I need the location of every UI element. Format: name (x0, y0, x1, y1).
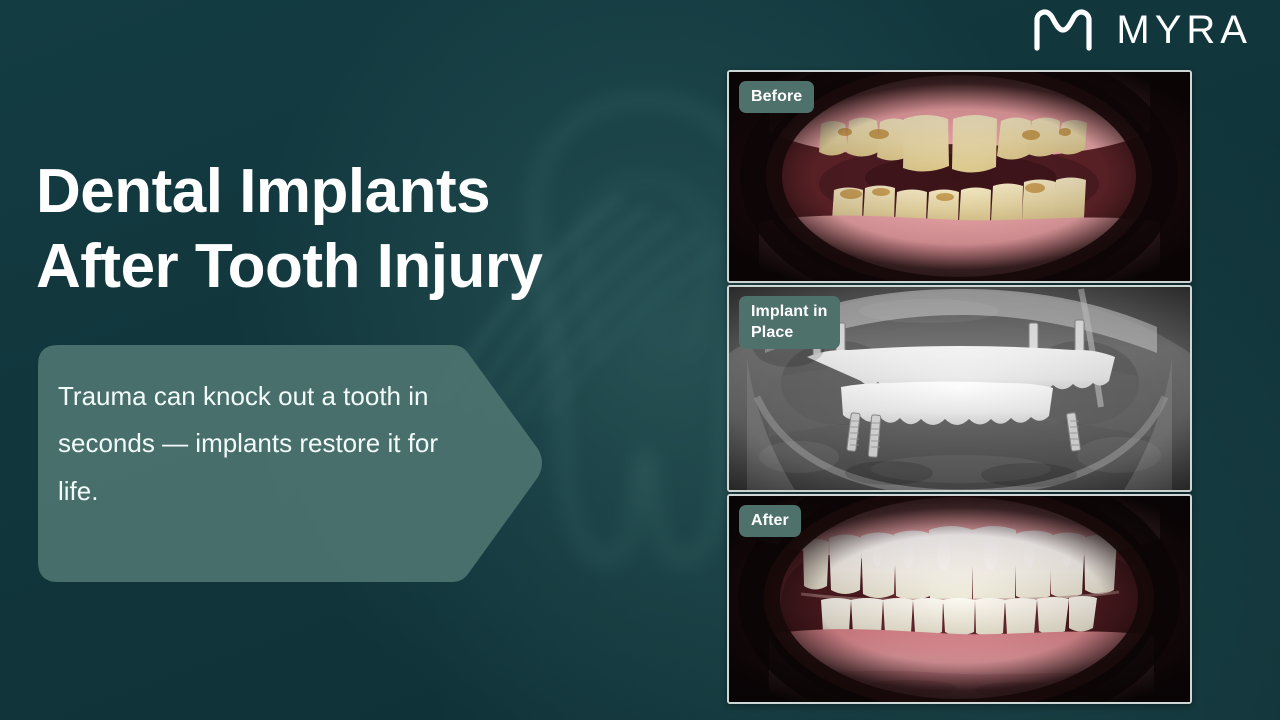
badge-line-2: Place (751, 324, 793, 341)
brand-name: MYRA (1116, 10, 1252, 50)
callout-banner: Trauma can knock out a tooth in seconds … (38, 345, 546, 582)
result-panel-before[interactable]: Before (727, 70, 1192, 283)
badge-line-1: Implant in (751, 303, 828, 320)
callout-text: Trauma can knock out a tooth in seconds … (58, 373, 458, 515)
title-line-1: Dental Implants (36, 157, 490, 226)
panel-badge-xray: Implant inPlace (739, 296, 840, 349)
title-line-2: After Tooth Injury (36, 229, 696, 305)
panel-badge-after: After (739, 505, 801, 537)
myra-m-mark-icon (1032, 8, 1094, 52)
panel-badge-before: Before (739, 81, 814, 113)
page-title: Dental Implants After Tooth Injury (36, 154, 696, 305)
slide-canvas: MYRA Dental Implants After Tooth Injury … (0, 0, 1280, 720)
result-panel-after[interactable]: After (727, 494, 1192, 704)
brand-logo: MYRA (1032, 8, 1252, 52)
result-panel-xray[interactable]: Implant inPlace (727, 285, 1192, 492)
